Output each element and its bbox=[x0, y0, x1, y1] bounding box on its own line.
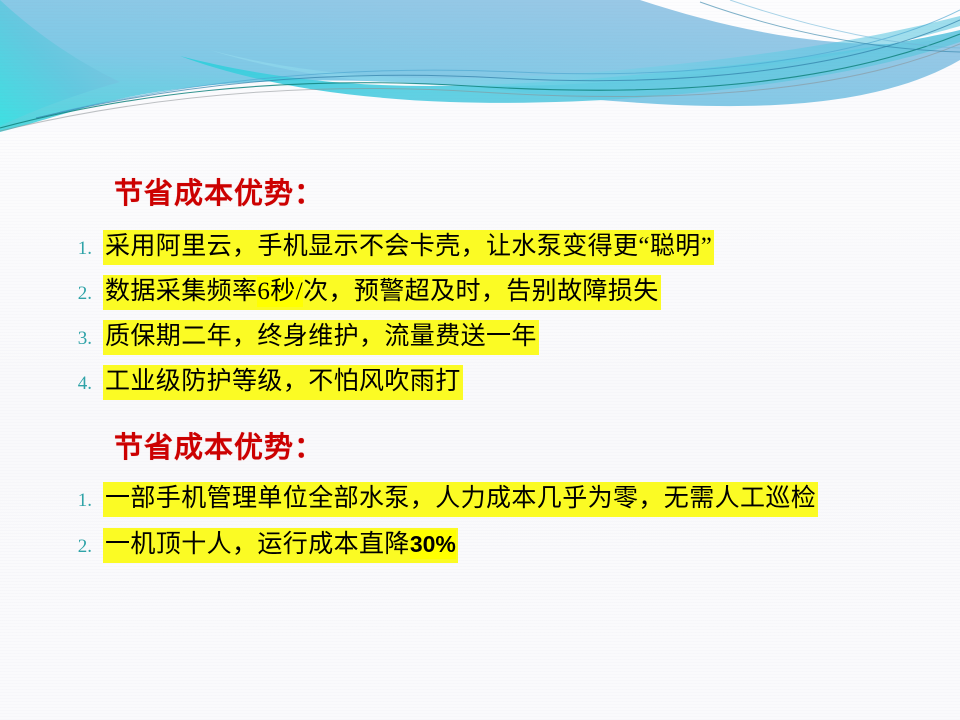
list-marker: 1. bbox=[50, 239, 92, 258]
text-run: 次，预警超及时，告别故障损失 bbox=[303, 278, 659, 305]
text-run-highlighted: 6秒/ bbox=[257, 277, 303, 307]
section-heading-2: 节省成本优势： bbox=[114, 424, 324, 466]
list-item-text: 质保期二年，终身维护，流量费送一年 bbox=[103, 320, 539, 355]
slide-content: 节省成本优势： 1. 采用阿里云，手机显示不会卡壳，让水泵变得更“聪明” 2. … bbox=[0, 0, 960, 720]
text-run: 一部手机管理单位全部水泵，人力成本几乎为零，无需人工巡检 bbox=[105, 485, 816, 512]
slide-canvas: 节省成本优势： 1. 采用阿里云，手机显示不会卡壳，让水泵变得更“聪明” 2. … bbox=[0, 0, 960, 720]
text-run: 质保期二年，终身维护，流量费送一年 bbox=[105, 323, 537, 350]
bullet-list-1: 1. 采用阿里云，手机显示不会卡壳，让水泵变得更“聪明” 2. 数据采集频率6秒… bbox=[0, 230, 714, 410]
bullet-list-2: 1. 一部手机管理单位全部水泵，人力成本几乎为零，无需人工巡检 2. 一机顶十人… bbox=[0, 482, 818, 574]
text-run: 数据采集频率 bbox=[105, 278, 257, 305]
list-item-text: 一机顶十人，运行成本直降30% bbox=[103, 528, 458, 563]
text-run: 一机顶十人，运行成本直降 bbox=[105, 531, 410, 558]
list-item[interactable]: 1. 一部手机管理单位全部水泵，人力成本几乎为零，无需人工巡检 bbox=[0, 482, 818, 528]
text-run: 工业级防护等级，不怕风吹雨打 bbox=[105, 368, 461, 395]
list-item-text: 数据采集频率6秒/次，预警超及时，告别故障损失 bbox=[103, 275, 661, 310]
list-item[interactable]: 3. 质保期二年，终身维护，流量费送一年 bbox=[0, 320, 714, 365]
section-heading-1: 节省成本优势： bbox=[114, 170, 324, 212]
list-item-text: 一部手机管理单位全部水泵，人力成本几乎为零，无需人工巡检 bbox=[103, 482, 818, 517]
list-item[interactable]: 2. 数据采集频率6秒/次，预警超及时，告别故障损失 bbox=[0, 275, 714, 320]
text-run: 采用阿里云，手机显示不会卡壳，让水泵变得更“聪明” bbox=[105, 233, 712, 260]
list-item[interactable]: 1. 采用阿里云，手机显示不会卡壳，让水泵变得更“聪明” bbox=[0, 230, 714, 275]
list-marker: 1. bbox=[50, 491, 92, 510]
list-item[interactable]: 4. 工业级防护等级，不怕风吹雨打 bbox=[0, 365, 714, 410]
text-run-highlighted: 30% bbox=[410, 530, 456, 559]
list-item[interactable]: 2. 一机顶十人，运行成本直降30% bbox=[0, 528, 818, 574]
list-marker: 3. bbox=[50, 329, 92, 348]
list-item-text: 工业级防护等级，不怕风吹雨打 bbox=[103, 365, 463, 400]
list-marker: 4. bbox=[50, 374, 92, 393]
list-marker: 2. bbox=[50, 537, 92, 556]
list-item-text: 采用阿里云，手机显示不会卡壳，让水泵变得更“聪明” bbox=[103, 230, 714, 265]
list-marker: 2. bbox=[50, 284, 92, 303]
